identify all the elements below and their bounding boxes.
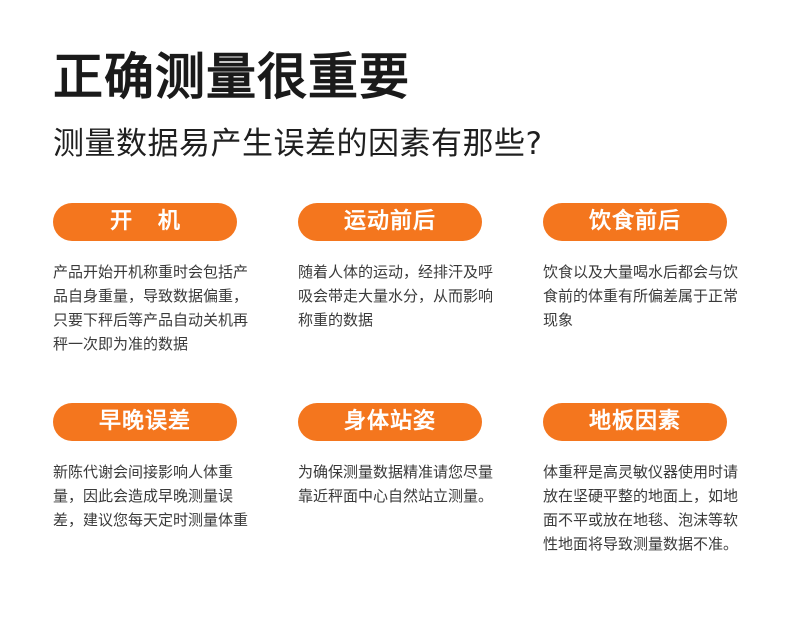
tip-card-posture: 身体站姿 为确保测量数据精准请您尽量靠近秤面中心自然站立测量。 (298, 403, 508, 571)
page-title: 正确测量很重要 (53, 48, 790, 106)
tip-body-text: 产品开始开机称重时会包括产品自身重量，导致数据偏重，只要下秤后等产品自动关机再秤… (53, 260, 249, 356)
tip-badge-power-on: 开 机 (53, 203, 237, 241)
measurement-tips-page: 正确测量很重要 测量数据易产生误差的因素有那些? 开 机 产品开始开机称重时会包… (0, 0, 790, 620)
tip-badge-label: 饮食前后 (589, 211, 681, 233)
tip-badge-posture: 身体站姿 (298, 403, 482, 441)
tip-body-text: 随着人体的运动，经排汗及呼吸会带走大量水分，从而影响称重的数据 (298, 260, 494, 332)
tip-card-power-on: 开 机 产品开始开机称重时会包括产品自身重量，导致数据偏重，只要下秤后等产品自动… (53, 203, 263, 371)
tip-badge-exercise: 运动前后 (298, 203, 482, 241)
page-subtitle: 测量数据易产生误差的因素有那些? (53, 124, 790, 164)
tip-badge-label: 早晚误差 (99, 411, 191, 433)
tip-badge-label: 运动前后 (344, 211, 436, 233)
tip-body-text: 体重秤是高灵敏仪器使用时请放在坚硬平整的地面上，如地面不平或放在地毯、泡沫等软性… (543, 460, 745, 556)
tip-card-diet: 饮食前后 饮食以及大量喝水后都会与饮食前的体重有所偏差属于正常现象 (543, 203, 753, 371)
tip-card-floor: 地板因素 体重秤是高灵敏仪器使用时请放在坚硬平整的地面上，如地面不平或放在地毯、… (543, 403, 753, 571)
tip-badge-label: 身体站姿 (344, 411, 436, 433)
tip-body-text: 为确保测量数据精准请您尽量靠近秤面中心自然站立测量。 (298, 460, 494, 508)
tip-body-text: 饮食以及大量喝水后都会与饮食前的体重有所偏差属于正常现象 (543, 260, 745, 332)
tip-badge-diet: 饮食前后 (543, 203, 727, 241)
tip-badge-morning-evening: 早晚误差 (53, 403, 237, 441)
page-header: 正确测量很重要 测量数据易产生误差的因素有那些? (53, 0, 790, 164)
tip-badge-floor: 地板因素 (543, 403, 727, 441)
tip-body-text: 新陈代谢会间接影响人体重量，因此会造成早晚测量误差，建议您每天定时测量体重 (53, 460, 249, 532)
tip-card-exercise: 运动前后 随着人体的运动，经排汗及呼吸会带走大量水分，从而影响称重的数据 (298, 203, 508, 371)
tips-grid: 开 机 产品开始开机称重时会包括产品自身重量，导致数据偏重，只要下秤后等产品自动… (53, 203, 753, 571)
tip-card-morning-evening: 早晚误差 新陈代谢会间接影响人体重量，因此会造成早晚测量误差，建议您每天定时测量… (53, 403, 263, 571)
tip-badge-label: 地板因素 (589, 411, 681, 433)
tip-badge-label: 开 机 (101, 211, 189, 233)
